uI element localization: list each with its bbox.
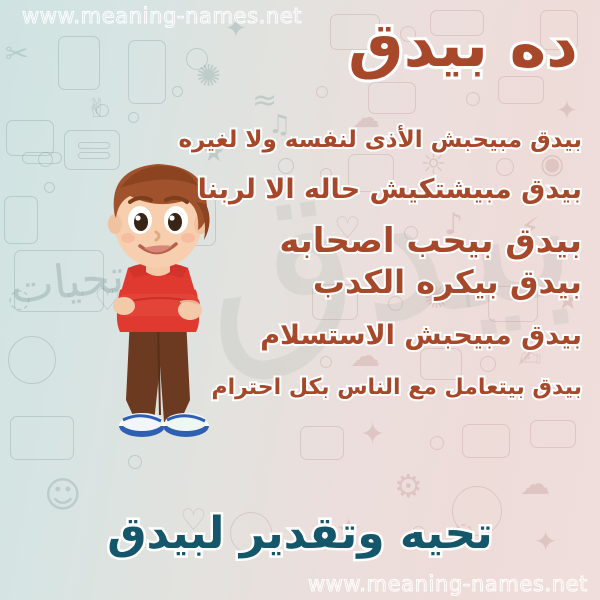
doodle-dot-icon	[172, 86, 183, 97]
doodle-dot-icon	[466, 92, 480, 106]
doodle-text-line-icon	[78, 142, 110, 149]
phrase-list: بيدق مبيحبش الأذى لنفسه ولا لغيره بيدق م…	[170, 128, 582, 399]
watermark-bottom: www.meaning-names.net	[308, 572, 588, 596]
doodle-planet-icon	[8, 336, 56, 384]
doodle-dot-icon	[96, 104, 109, 117]
doodle-envelope-icon	[368, 82, 416, 114]
doodle-line-icon	[22, 152, 62, 164]
greeting-text: تحيه وتقدير لبيدق	[0, 512, 600, 556]
doodle-monkey-icon: ☺	[44, 478, 82, 514]
doodle-person-icon	[128, 40, 166, 104]
phrase-item-3: بيدق بيحب اصحابه	[170, 224, 582, 260]
phrase-item-5: بيدق مبيحبش الاستسلام	[170, 322, 582, 350]
doodle-star-icon: ✦	[360, 420, 385, 450]
doodle-dot-icon	[128, 112, 139, 123]
doodle-code-icon	[300, 426, 344, 460]
doodle-bag-icon	[58, 36, 100, 90]
doodle-circle-icon	[186, 48, 208, 70]
doodle-dot-icon	[44, 182, 55, 193]
page-title: ده بيدق	[348, 14, 578, 76]
doodle-bottle-icon	[4, 196, 38, 244]
doodle-envelope-icon	[462, 424, 510, 458]
doodle-dot-icon	[128, 455, 142, 469]
name-meaning-card: ★ ♫ ✦ ♡ ◌ ☺ ✂ ✺ ≈ ✌ ☁ ✦ ☼	[0, 0, 600, 600]
doodle-note-icon	[6, 120, 54, 156]
doodle-flower-icon: ✺	[196, 62, 221, 92]
doodle-dot-icon	[316, 86, 328, 98]
doodle-dot-icon	[430, 436, 444, 450]
doodle-scissors-icon: ✂	[5, 40, 28, 68]
doodle-hand-icon: ✌	[86, 96, 108, 122]
phrase-item-6: بيدق بيتعامل مع الناس بكل احترام	[170, 376, 582, 399]
doodle-car-icon	[530, 420, 576, 448]
watermark-top: www.meaning-names.net	[22, 4, 302, 28]
phrase-item-4: بيدق بيكره الكدب	[170, 266, 582, 300]
doodle-circle-icon	[38, 152, 53, 167]
phrase-item-2: بيدق مبيشتكيش حاله الا لربنا	[170, 176, 582, 204]
doodle-book-icon	[10, 416, 74, 460]
doodle-fish-icon: ≈	[252, 86, 277, 116]
doodle-cloud-icon: ☁	[520, 470, 550, 500]
doodle-gear-icon: ⚙	[394, 470, 423, 502]
phrase-item-1: بيدق مبيحبش الأذى لنفسه ولا لغيره	[170, 128, 582, 152]
